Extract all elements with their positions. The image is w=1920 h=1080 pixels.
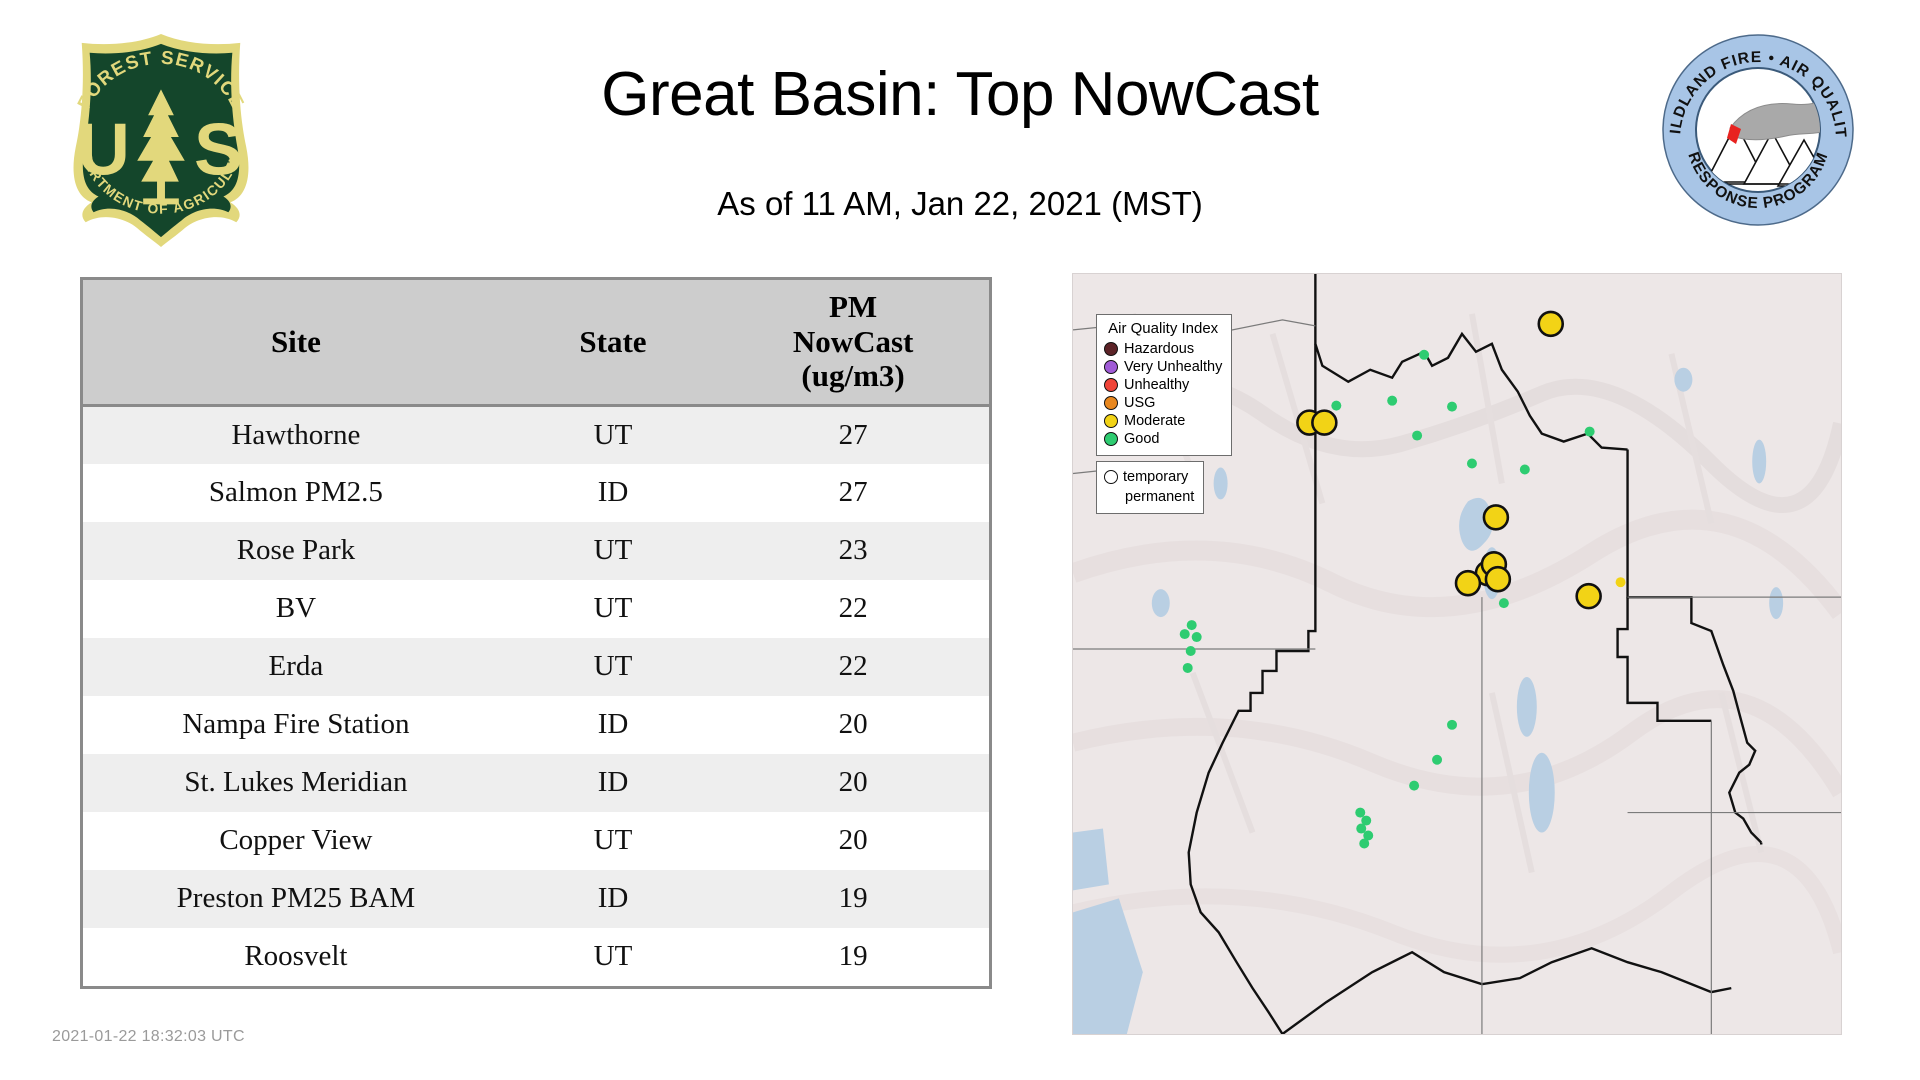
column-header-pm-nowcast[interactable]: PM NowCast (ug/m3) xyxy=(717,280,989,406)
page-title: Great Basin: Top NowCast xyxy=(300,62,1620,127)
aqi-swatch-icon xyxy=(1104,378,1118,392)
permanent-site-icon xyxy=(1104,490,1120,504)
monitor-marker[interactable] xyxy=(1180,629,1190,639)
cell-site: Salmon PM2.5 xyxy=(83,464,509,522)
monitor-marker[interactable] xyxy=(1447,720,1457,730)
permanent-label: permanent xyxy=(1125,489,1194,505)
cell-pm: 19 xyxy=(717,928,989,986)
aqi-legend-label: Unhealthy xyxy=(1124,378,1189,393)
table-row[interactable]: Rose ParkUT23 xyxy=(83,522,989,580)
monitor-marker[interactable] xyxy=(1447,402,1457,412)
aqi-legend-row: Good xyxy=(1104,430,1222,448)
aqi-swatch-icon xyxy=(1104,414,1118,428)
monitor-marker[interactable] xyxy=(1331,401,1341,411)
cell-state: ID xyxy=(509,754,717,812)
table-row[interactable]: Copper ViewUT20 xyxy=(83,812,989,870)
monitor-marker[interactable] xyxy=(1186,646,1196,656)
legend-row-permanent: permanent xyxy=(1104,487,1194,507)
table-row[interactable]: St. Lukes MeridianID20 xyxy=(83,754,989,812)
cell-state: ID xyxy=(509,696,717,754)
monitor-marker[interactable] xyxy=(1409,781,1419,791)
monitor-marker[interactable] xyxy=(1432,755,1442,765)
cell-site: Erda xyxy=(83,638,509,696)
monitor-marker[interactable] xyxy=(1187,620,1197,630)
monitor-marker[interactable] xyxy=(1539,312,1563,336)
monitor-marker[interactable] xyxy=(1585,427,1595,437)
aqi-legend-title: Air Quality Index xyxy=(1104,320,1222,337)
aqi-legend-label: Very Unhealthy xyxy=(1124,360,1222,375)
cell-state: UT xyxy=(509,638,717,696)
cell-site: Hawthorne xyxy=(83,406,509,464)
cell-pm: 27 xyxy=(717,406,989,464)
aqi-swatch-icon xyxy=(1104,342,1118,356)
monitor-marker[interactable] xyxy=(1456,571,1480,595)
table-row[interactable]: BVUT22 xyxy=(83,580,989,638)
monitor-marker[interactable] xyxy=(1577,584,1601,608)
temporary-site-icon xyxy=(1104,470,1118,484)
monitor-marker[interactable] xyxy=(1192,632,1202,642)
page-subtitle: As of 11 AM, Jan 22, 2021 (MST) xyxy=(300,185,1620,223)
table-row[interactable]: HawthorneUT27 xyxy=(83,406,989,464)
cell-state: UT xyxy=(509,406,717,464)
forest-service-logo: FOREST SERVICE DEPARTMENT OF AGRICULTURE… xyxy=(52,28,270,250)
fs-letter-s: S xyxy=(194,109,243,191)
site-type-legend: temporary permanent xyxy=(1096,461,1204,514)
cell-site: St. Lukes Meridian xyxy=(83,754,509,812)
aqi-swatch-icon xyxy=(1104,360,1118,374)
aqi-legend-label: Good xyxy=(1124,432,1159,447)
table-row[interactable]: RoosveltUT19 xyxy=(83,928,989,986)
monitor-marker[interactable] xyxy=(1355,808,1365,818)
cell-state: UT xyxy=(509,580,717,638)
slide-canvas: FOREST SERVICE DEPARTMENT OF AGRICULTURE… xyxy=(0,0,1920,1080)
cell-state: UT xyxy=(509,928,717,986)
monitor-marker[interactable] xyxy=(1312,411,1336,435)
monitor-marker[interactable] xyxy=(1520,464,1530,474)
temporary-label: temporary xyxy=(1123,469,1188,485)
monitor-marker[interactable] xyxy=(1616,577,1626,587)
table-row[interactable]: Salmon PM2.5ID27 xyxy=(83,464,989,522)
generated-timestamp: 2021-01-22 18:32:03 UTC xyxy=(52,1028,245,1046)
monitor-marker[interactable] xyxy=(1486,567,1510,591)
cell-site: Nampa Fire Station xyxy=(83,696,509,754)
cell-pm: 22 xyxy=(717,580,989,638)
monitor-marker[interactable] xyxy=(1499,598,1509,608)
cell-state: ID xyxy=(509,464,717,522)
cell-site: Rose Park xyxy=(83,522,509,580)
aqi-legend-label: USG xyxy=(1124,396,1155,411)
cell-pm: 20 xyxy=(717,696,989,754)
monitor-marker[interactable] xyxy=(1387,396,1397,406)
monitor-marker[interactable] xyxy=(1412,431,1422,441)
monitor-marker[interactable] xyxy=(1359,839,1369,849)
cell-site: Preston PM25 BAM xyxy=(83,870,509,928)
cell-pm: 20 xyxy=(717,754,989,812)
aqi-legend-label: Hazardous xyxy=(1124,342,1194,357)
aqi-swatch-icon xyxy=(1104,396,1118,410)
table-body: HawthorneUT27Salmon PM2.5ID27Rose ParkUT… xyxy=(83,406,989,986)
aqi-legend-label: Moderate xyxy=(1124,414,1185,429)
cell-pm: 22 xyxy=(717,638,989,696)
aqi-legend-row: Moderate xyxy=(1104,412,1222,430)
table-row[interactable]: Nampa Fire StationID20 xyxy=(83,696,989,754)
fs-letter-u: U xyxy=(77,109,130,191)
cell-state: ID xyxy=(509,870,717,928)
great-basin-monitor-map[interactable]: Air Quality Index HazardousVery Unhealth… xyxy=(1072,273,1842,1035)
monitor-marker[interactable] xyxy=(1419,350,1429,360)
cell-pm: 23 xyxy=(717,522,989,580)
aqi-legend-row: Unhealthy xyxy=(1104,376,1222,394)
legend-row-temporary: temporary xyxy=(1104,467,1194,487)
pm-header-line-2: NowCast xyxy=(793,324,914,359)
column-header-state[interactable]: State xyxy=(509,280,717,406)
monitor-marker[interactable] xyxy=(1467,459,1477,469)
table-row[interactable]: Preston PM25 BAMID19 xyxy=(83,870,989,928)
top-nowcast-table: Site State PM NowCast (ug/m3) HawthorneU… xyxy=(80,277,992,989)
pm-header-line-1: PM xyxy=(829,289,877,324)
pm-header-line-3: (ug/m3) xyxy=(801,358,904,393)
aqi-legend: Air Quality Index HazardousVery Unhealth… xyxy=(1096,314,1232,456)
cell-site: Copper View xyxy=(83,812,509,870)
cell-pm: 27 xyxy=(717,464,989,522)
cell-site: BV xyxy=(83,580,509,638)
cell-pm: 20 xyxy=(717,812,989,870)
aqi-legend-row: Very Unhealthy xyxy=(1104,358,1222,376)
table-row[interactable]: ErdaUT22 xyxy=(83,638,989,696)
aqi-legend-row: Hazardous xyxy=(1104,340,1222,358)
aqi-legend-row: USG xyxy=(1104,394,1222,412)
table-header-row: Site State PM NowCast (ug/m3) xyxy=(83,280,989,406)
aqi-swatch-icon xyxy=(1104,432,1118,446)
cell-site: Roosvelt xyxy=(83,928,509,986)
wfaqrp-logo: WILDLAND FIRE • AIR QUALITY RESPONSE PRO… xyxy=(1660,32,1856,228)
cell-state: UT xyxy=(509,522,717,580)
cell-state: UT xyxy=(509,812,717,870)
column-header-site[interactable]: Site xyxy=(83,280,509,406)
cell-pm: 19 xyxy=(717,870,989,928)
monitor-marker[interactable] xyxy=(1183,663,1193,673)
monitor-marker[interactable] xyxy=(1484,505,1508,529)
